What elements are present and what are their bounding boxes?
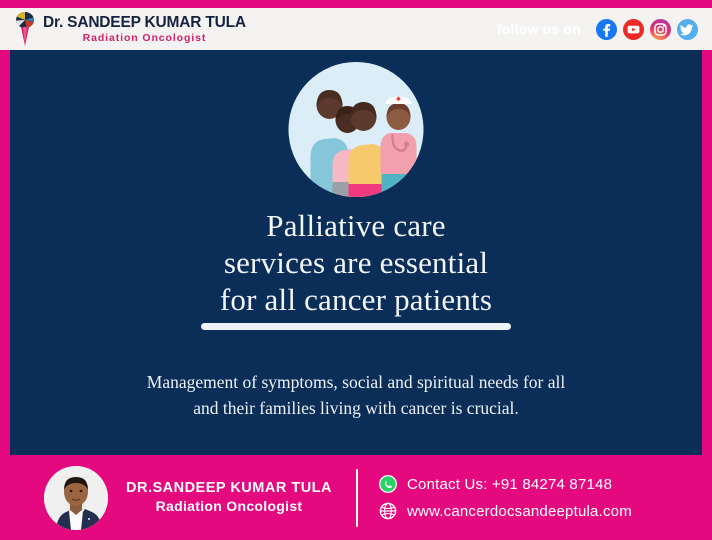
headline-line-3: for all cancer patients	[10, 282, 702, 319]
contact-phone-text: Contact Us: +91 84274 87148	[407, 476, 612, 493]
footer-bar: DR.SANDEEP KUMAR TULA Radiation Oncologi…	[0, 455, 712, 540]
globe-icon	[378, 501, 398, 521]
footer-doctor-name: DR.SANDEEP KUMAR TULA	[126, 479, 332, 498]
subtext-line-2: and their families living with cancer is…	[10, 396, 702, 422]
contact-phone-row[interactable]: Contact Us: +91 84274 87148	[378, 474, 632, 494]
headline-underline	[201, 323, 511, 330]
footer-doctor-role: Radiation Oncologist	[126, 498, 332, 516]
footer-identity: DR.SANDEEP KUMAR TULA Radiation Oncologi…	[126, 479, 332, 515]
main-content-panel: Palliative care services are essential f…	[10, 50, 702, 455]
subtext-line-1: Management of symptoms, social and spiri…	[10, 370, 702, 396]
ribbon-logo-icon	[12, 11, 38, 47]
youtube-icon[interactable]	[623, 19, 644, 40]
subtext: Management of symptoms, social and spiri…	[10, 370, 702, 422]
headline: Palliative care services are essential f…	[10, 208, 702, 319]
social-links: follow us on	[497, 19, 712, 40]
brand-lockup: Dr. SANDEEP KUMAR TULA Radiation Oncolog…	[0, 11, 246, 47]
facebook-icon[interactable]	[596, 19, 617, 40]
whatsapp-icon	[378, 474, 398, 494]
family-with-nurse-illustration	[289, 62, 424, 197]
follow-us-label: follow us on	[497, 21, 581, 37]
brand-subtitle: Radiation Oncologist	[43, 33, 246, 44]
instagram-icon[interactable]	[650, 19, 671, 40]
contact-block: Contact Us: +91 84274 87148 www.cancerdo…	[378, 474, 632, 521]
header-bar: Dr. SANDEEP KUMAR TULA Radiation Oncolog…	[0, 8, 712, 50]
headline-line-2: services are essential	[10, 245, 702, 282]
promotional-poster: Dr. SANDEEP KUMAR TULA Radiation Oncolog…	[0, 0, 712, 540]
brand-text-block: Dr. SANDEEP KUMAR TULA Radiation Oncolog…	[43, 15, 246, 44]
doctor-portrait	[44, 466, 108, 530]
twitter-icon[interactable]	[677, 19, 698, 40]
contact-website-text: www.cancerdocsandeeptula.com	[407, 503, 632, 520]
contact-website-row[interactable]: www.cancerdocsandeeptula.com	[378, 501, 632, 521]
brand-name: Dr. SANDEEP KUMAR TULA	[43, 15, 246, 31]
footer-divider	[356, 469, 358, 527]
headline-line-1: Palliative care	[10, 208, 702, 245]
